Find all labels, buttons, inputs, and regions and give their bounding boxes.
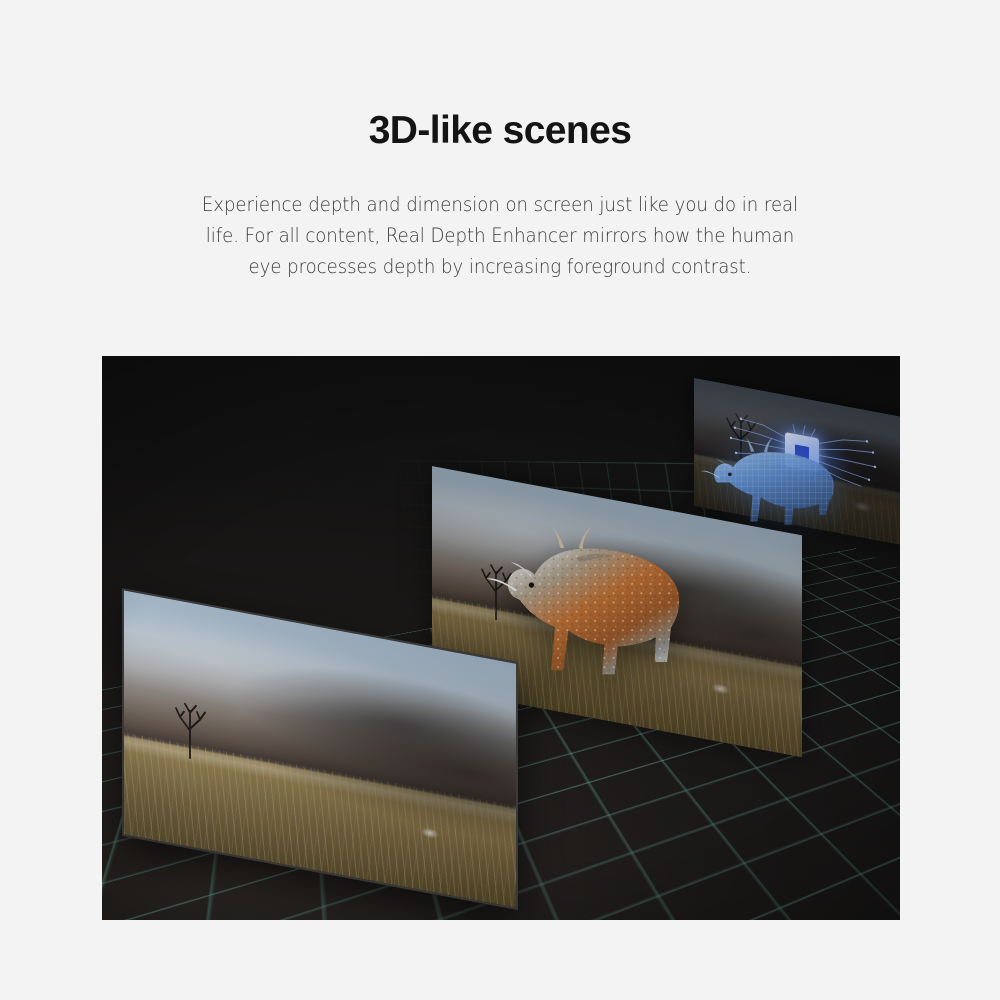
chip-body xyxy=(785,432,819,472)
feature-text-block: 3D-like scenes Experience depth and dime… xyxy=(0,108,1000,282)
hero-image xyxy=(102,356,900,920)
chip-core xyxy=(795,444,809,460)
feature-description: Experience depth and dimension on screen… xyxy=(193,190,807,282)
processor-chip-icon xyxy=(785,432,819,472)
page-title: 3D-like scenes xyxy=(0,108,1000,154)
product-feature-page: 3D-like scenes Experience depth and dime… xyxy=(0,0,1000,1000)
